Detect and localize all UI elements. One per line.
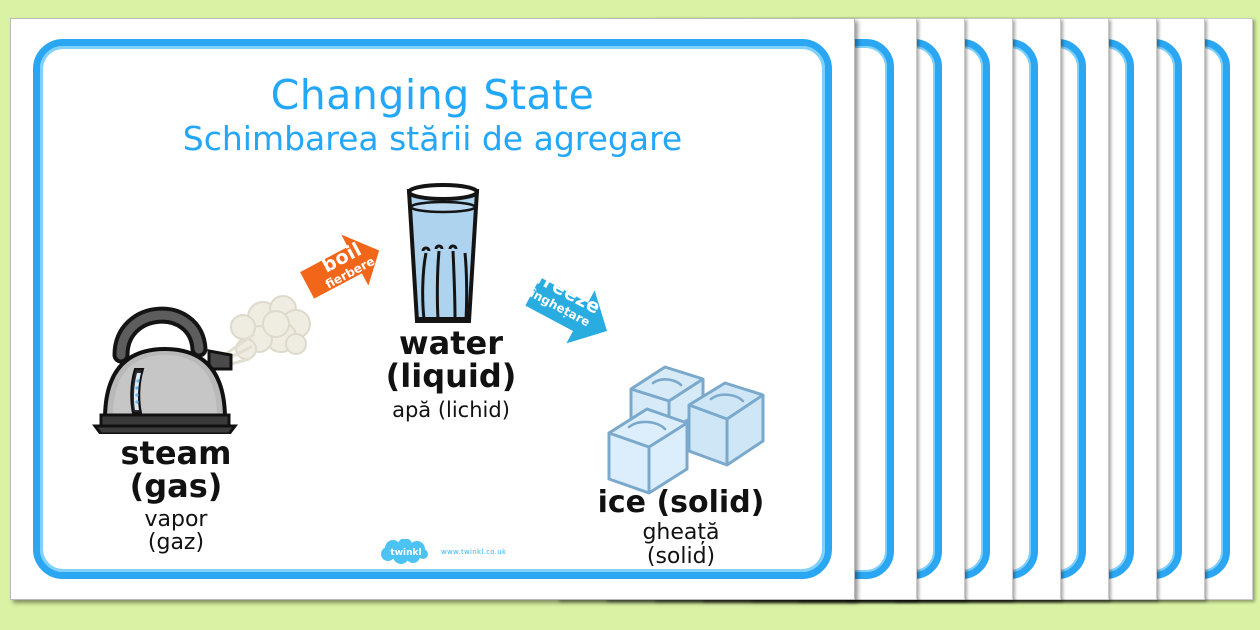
steam-label-ro-word: vapor bbox=[145, 507, 208, 532]
boil-arrow: boil fierbere bbox=[289, 224, 399, 329]
steam-label-ro-state: (gaz) bbox=[148, 530, 204, 555]
twinkl-url: www.twinkl.co.uk bbox=[441, 548, 506, 556]
glass-of-water-icon bbox=[393, 181, 493, 335]
ice-label-ro: gheață (solid) bbox=[556, 521, 806, 569]
twinkl-branding: twinkl www.twinkl.co.uk bbox=[379, 539, 506, 565]
ice-label-group: ice (solid) gheață (solid) bbox=[556, 487, 806, 569]
steam-label-ro: vapor (gaz) bbox=[51, 508, 301, 556]
steam-label-group: steam (gas) vapor (gaz) bbox=[51, 437, 301, 555]
poster-page: Changing State Schimbarea stării de agre… bbox=[10, 18, 855, 600]
ice-label-ro-state: (solid) bbox=[647, 544, 715, 569]
water-label-en-state: (liquid) bbox=[386, 357, 517, 395]
water-label-en: water (liquid) bbox=[336, 327, 566, 394]
page-title: Changing State bbox=[11, 71, 854, 119]
twinkl-wordmark: twinkl bbox=[390, 548, 421, 558]
ice-label-ro-word: gheață bbox=[642, 520, 719, 545]
water-label-group: water (liquid) apă (lichid) bbox=[336, 327, 566, 421]
steam-label-en-state: (gas) bbox=[130, 467, 223, 505]
ice-label-en: ice (solid) bbox=[556, 487, 806, 518]
twinkl-cloud-icon: twinkl bbox=[379, 539, 435, 565]
poster-content: Changing State Schimbarea stării de agre… bbox=[11, 19, 854, 599]
kettle-icon bbox=[91, 269, 321, 438]
steam-label-en: steam (gas) bbox=[51, 437, 301, 504]
page-subtitle: Schimbarea stării de agregare bbox=[11, 119, 854, 158]
water-label-ro: apă (lichid) bbox=[336, 399, 566, 422]
